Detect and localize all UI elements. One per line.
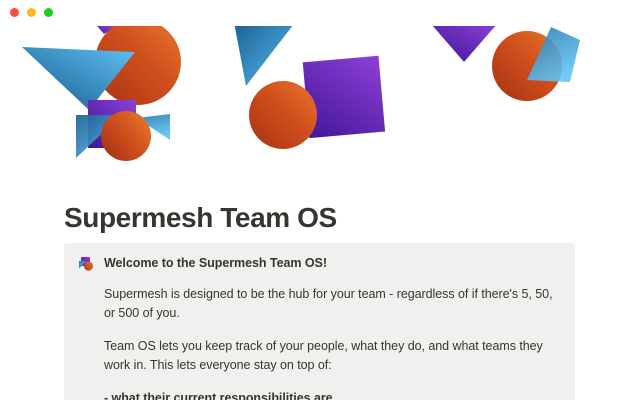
minimize-window-button[interactable]: [27, 8, 36, 17]
shape-purple-triangle-1: [432, 24, 497, 62]
callout-header: Welcome to the Supermesh Team OS!: [78, 255, 559, 272]
window-titlebar: [0, 0, 640, 26]
traffic-light-controls: [10, 8, 53, 17]
maximize-window-button[interactable]: [44, 8, 53, 17]
shape-orange-circle-3: [249, 81, 317, 149]
page-cover-image[interactable]: [0, 0, 640, 186]
callout-paragraph-2: Team OS lets you keep track of your peop…: [104, 337, 559, 375]
callout-paragraph-1: Supermesh is designed to be the hub for …: [104, 285, 559, 323]
shape-blue-triangle-4: [234, 20, 297, 86]
supermesh-logo-icon: [78, 256, 94, 272]
callout-body: Supermesh is designed to be the hub for …: [78, 285, 559, 400]
close-window-button[interactable]: [10, 8, 19, 17]
app-window: Supermesh Team OS: [0, 0, 640, 400]
page-title[interactable]: Supermesh Team OS: [64, 201, 337, 235]
callout-block[interactable]: Welcome to the Supermesh Team OS! Superm…: [64, 243, 575, 400]
shape-orange-circle-2: [101, 111, 151, 161]
callout-bullet-1: - what their current responsibilities ar…: [104, 389, 559, 400]
callout-title: Welcome to the Supermesh Team OS!: [104, 255, 327, 272]
cover-artwork: [0, 0, 640, 186]
